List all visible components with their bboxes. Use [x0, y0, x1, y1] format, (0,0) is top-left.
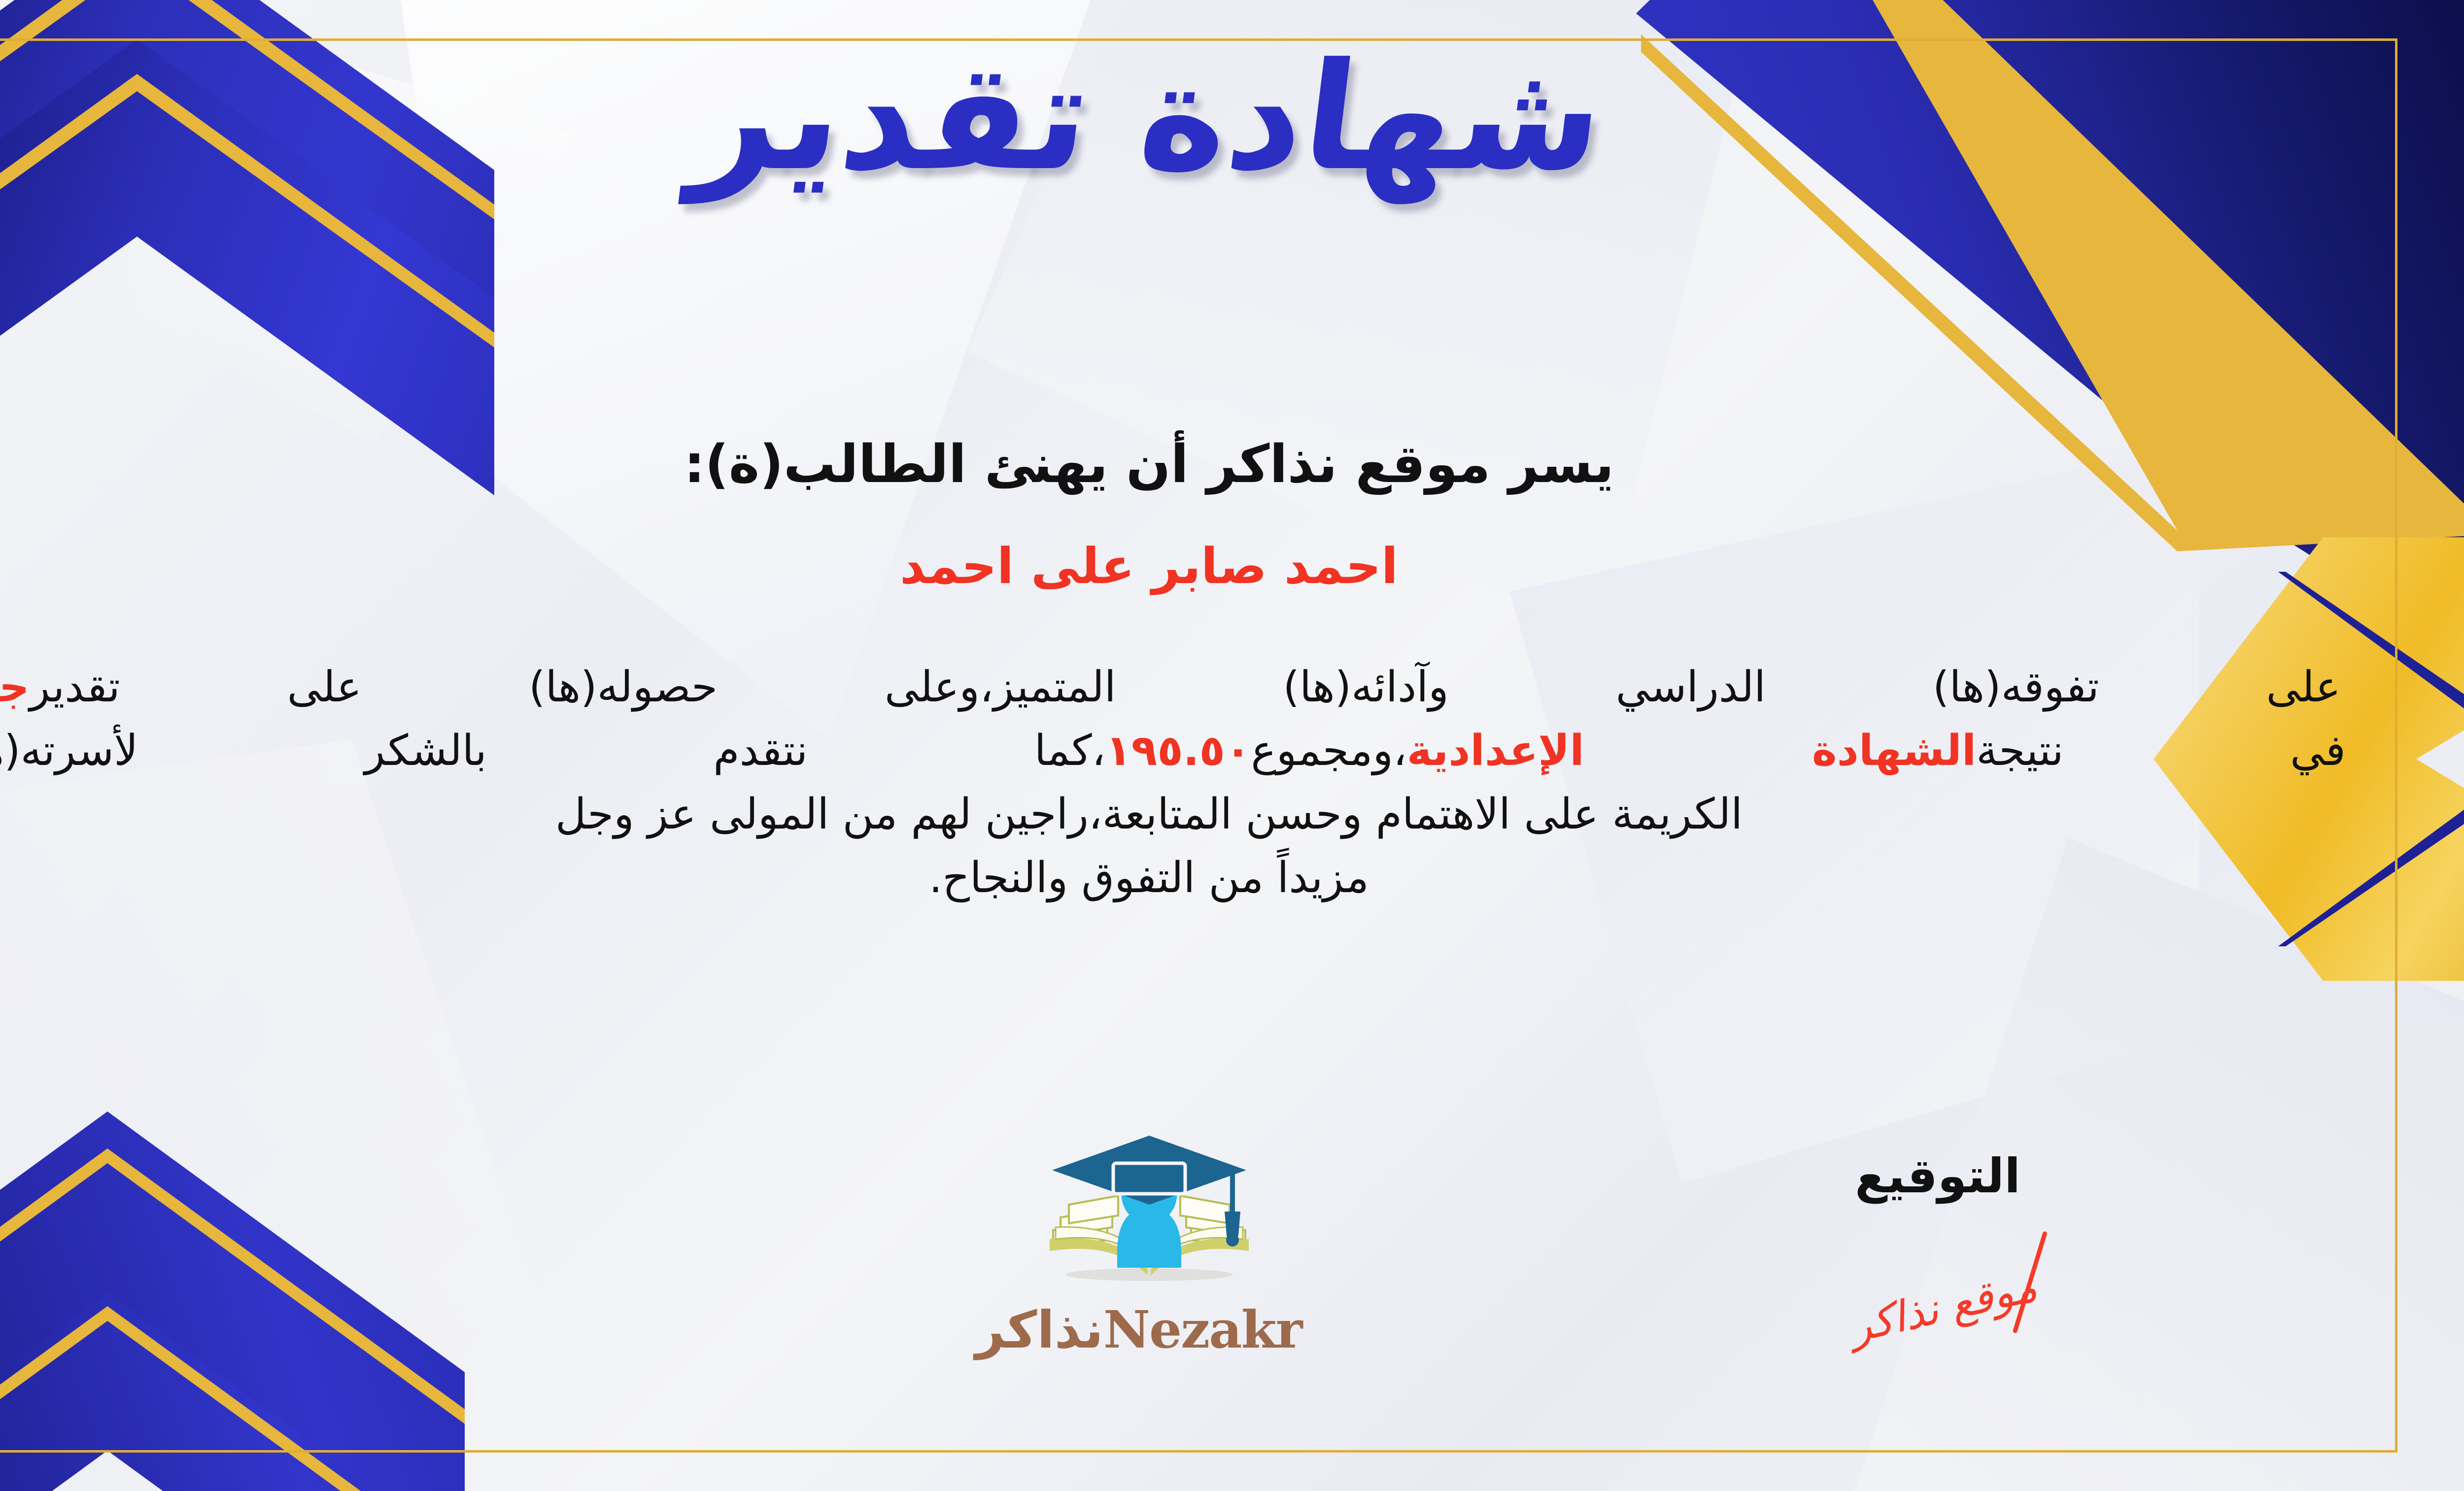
signature-handwriting: موقع نذاكر — [1845, 1262, 2042, 1352]
signature-label: التوقيع — [1855, 1148, 2020, 1204]
citation-line-2-mid: ،ومجموع — [1251, 726, 1406, 775]
logo-arabic-text: نذاكر — [975, 1300, 1103, 1360]
grade-value: جيد — [0, 662, 30, 712]
total-score: ١٩٥.٥٠ — [1105, 726, 1251, 775]
citation-line-1: على تفوقه(ها) الدراسي وآدائه(ها) المتميز… — [0, 656, 2375, 719]
student-name: احمد صابر على احمد — [0, 537, 2464, 595]
exam-name: الشهادة الإعدادية — [1407, 726, 1976, 775]
site-logo: Nezakrنذاكر — [996, 1134, 1302, 1360]
citation-line-1-text: على تفوقه(ها) الدراسي وآدائه(ها) المتميز… — [30, 662, 2341, 712]
citation-paragraph: على تفوقه(ها) الدراسي وآدائه(ها) المتميز… — [0, 656, 2375, 910]
certificate-title: شهادة تقدير — [0, 39, 2464, 195]
certificate-content: شهادة تقدير يسر موقع نذاكر أن يهنئ الطال… — [0, 0, 2464, 1491]
citation-line-2: في نتيجةالشهادة الإعدادية،ومجموع١٩٥.٥٠،ك… — [0, 719, 2375, 783]
logo-wordmark: Nezakrنذاكر — [996, 1299, 1302, 1360]
citation-line-2-suffix: ،كما نتقدم بالشكر لأسرته(ها) — [0, 726, 1105, 775]
citation-line-4: مزيداً من التفوق والنجاح. — [0, 846, 2375, 910]
greeting-line: يسر موقع نذاكر أن يهنئ الطالب(ة): — [0, 434, 2464, 494]
logo-latin-text: Nezakr — [1103, 1299, 1302, 1360]
citation-line-2-prefix: في نتيجة — [1976, 726, 2346, 775]
graduation-book-icon — [1033, 1134, 1265, 1296]
citation-line-3: الكريمة على الاهتمام وحسن المتابعة،راجين… — [0, 783, 2375, 846]
certificate-canvas: شهادة تقدير يسر موقع نذاكر أن يهنئ الطال… — [0, 0, 2464, 1491]
